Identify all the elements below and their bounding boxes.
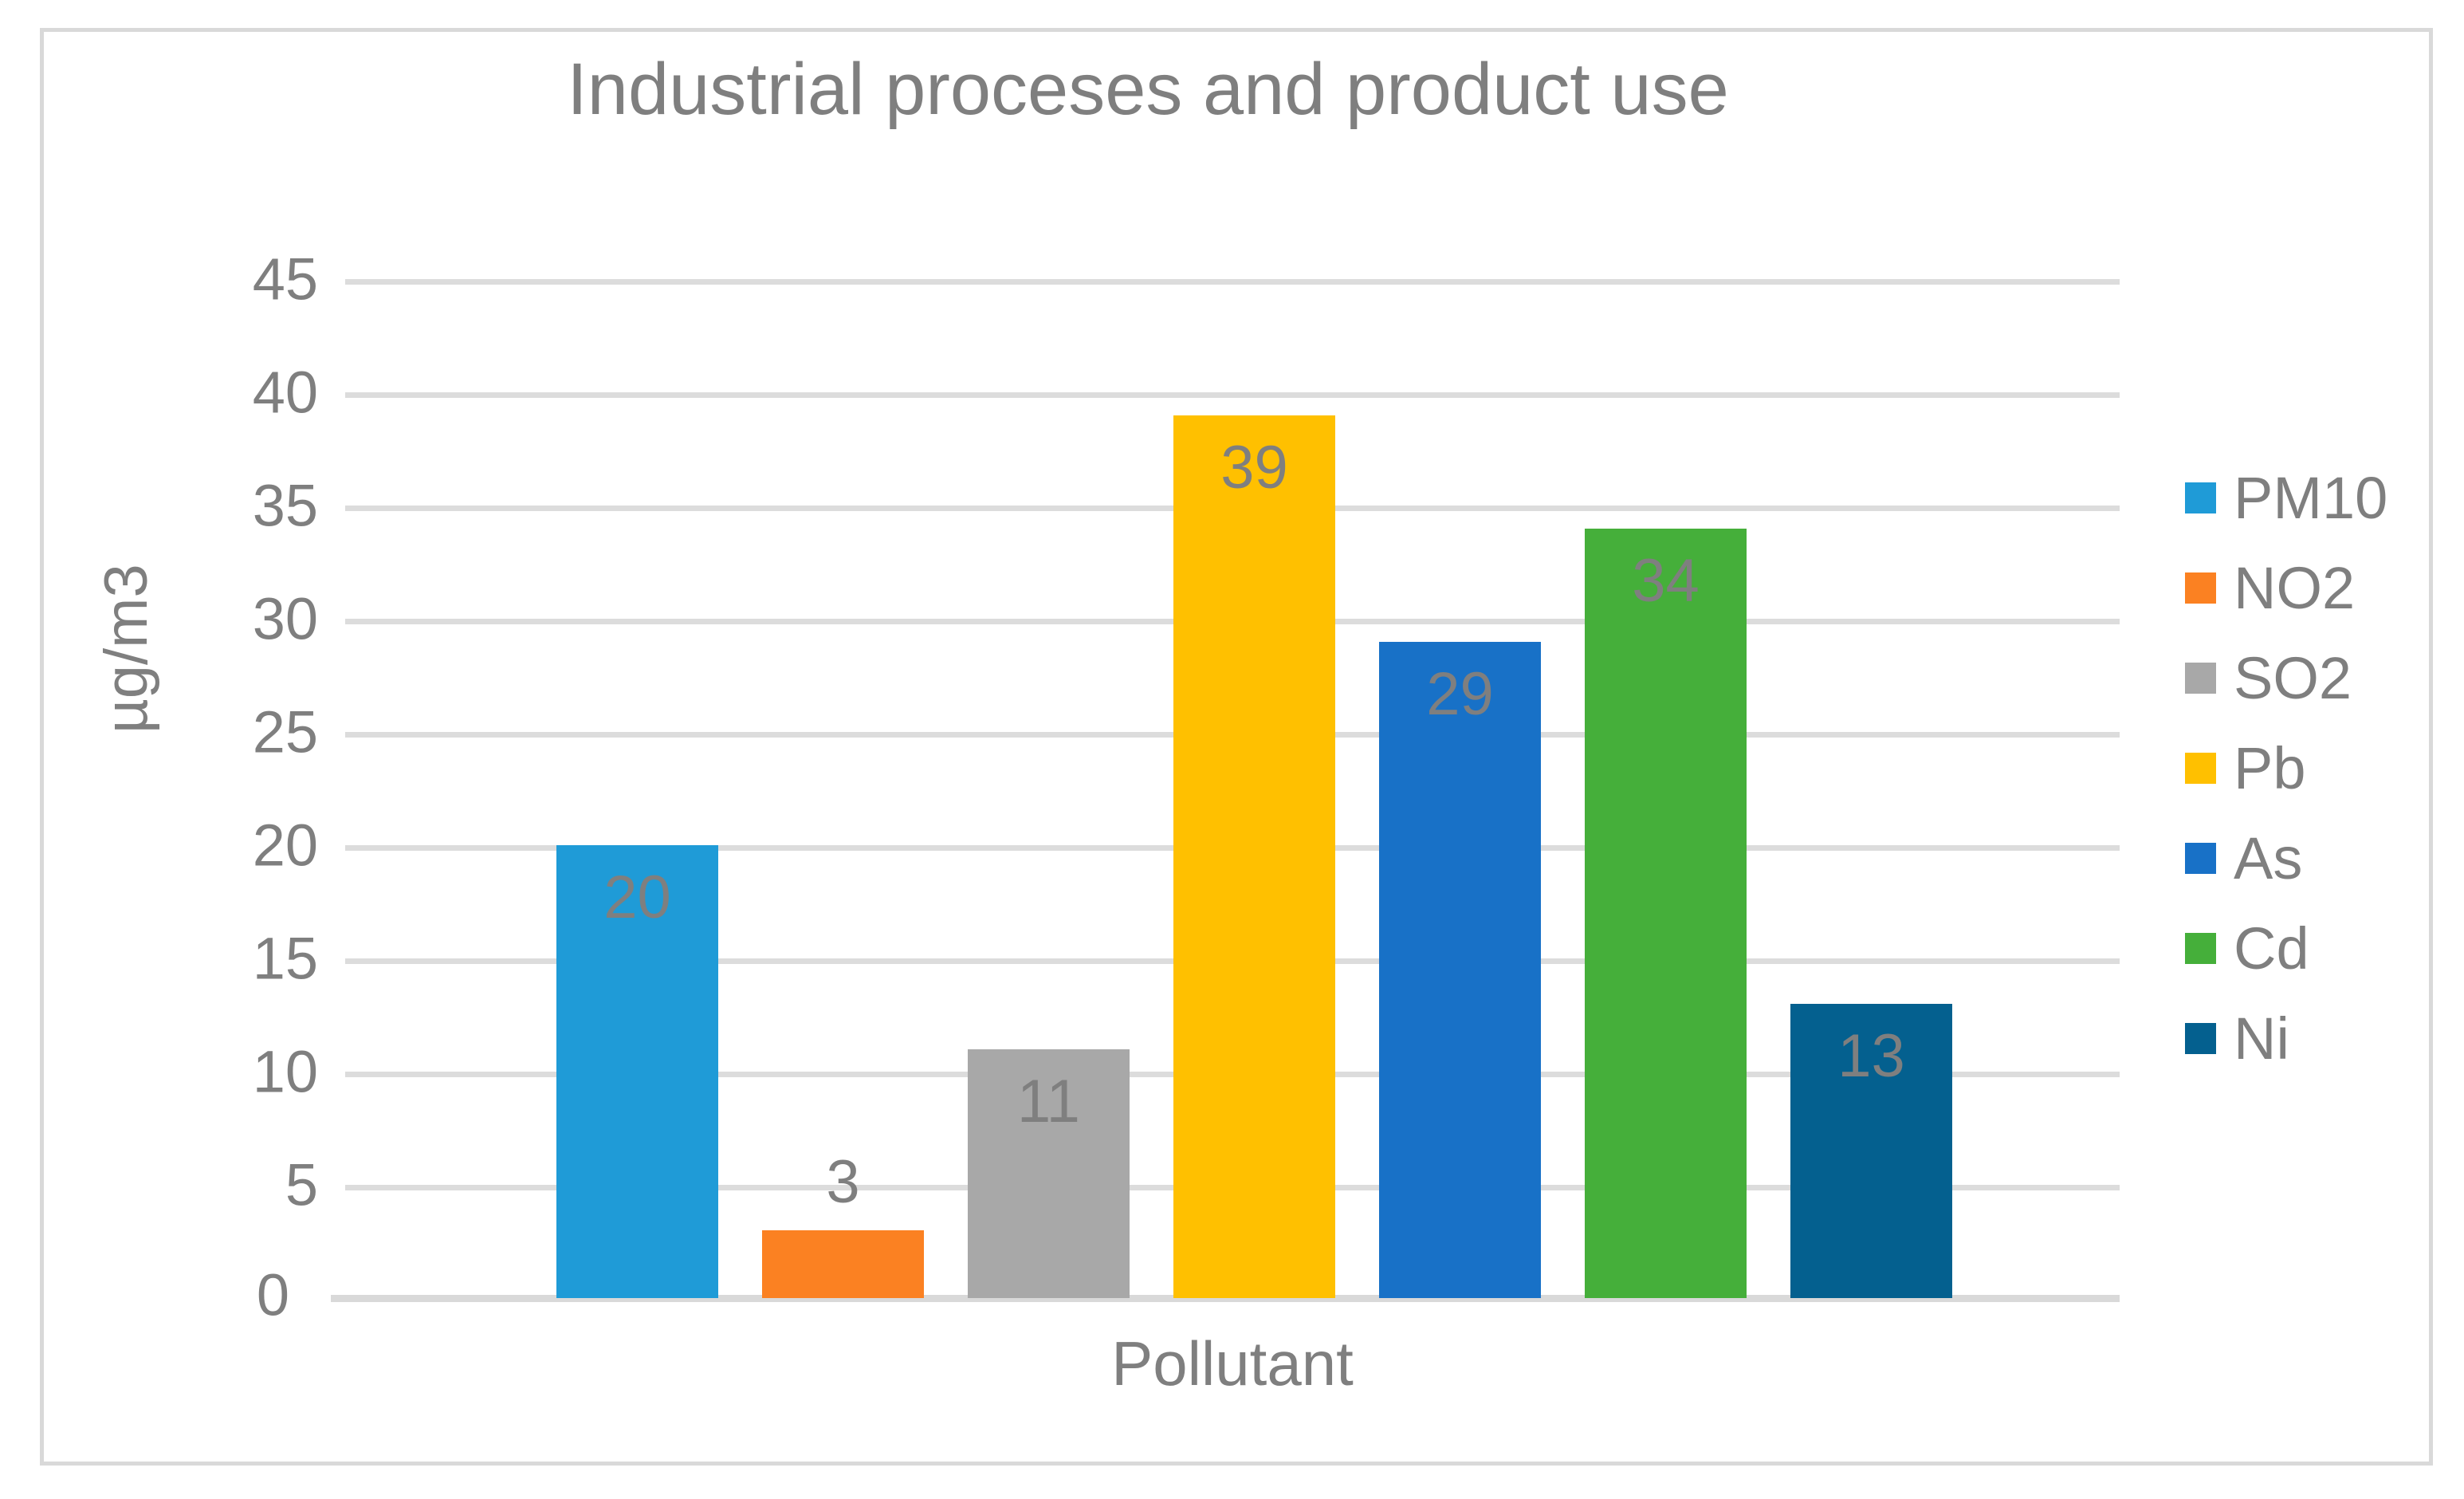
legend-item-label: SO2: [2234, 649, 2352, 708]
y-tick-label: 10: [111, 1038, 318, 1106]
legend-swatch-icon: [2185, 663, 2216, 694]
y-tick-label: 30: [111, 585, 318, 653]
legend-item-label: NO2: [2234, 559, 2355, 618]
bar-value-label: 3: [826, 1147, 859, 1217]
gridline-45: 45: [345, 279, 2120, 285]
bar-as[interactable]: 29: [1379, 642, 1541, 1298]
legend-swatch-icon: [2185, 572, 2216, 604]
y-tick-label: 40: [111, 359, 318, 427]
y-tick-label: 45: [111, 246, 318, 313]
chart-title: Industrial proceses and product use: [44, 48, 2252, 132]
plot-area: 45 40 35 30 25 20 15 10: [345, 279, 2120, 1298]
legend-item-label: Cd: [2234, 919, 2309, 978]
chart-screenshot: Industrial proceses and product use µg/m…: [0, 0, 2464, 1499]
legend-swatch-icon: [2185, 843, 2216, 874]
legend-swatch-icon: [2185, 933, 2216, 964]
legend-swatch-icon: [2185, 482, 2216, 513]
legend-item-as[interactable]: As: [2185, 813, 2424, 903]
bar-cd[interactable]: 34: [1585, 529, 1747, 1298]
legend-item-pb[interactable]: Pb: [2185, 723, 2424, 813]
bar-value-label: 39: [1220, 433, 1288, 502]
legend-item-label: As: [2234, 829, 2302, 888]
legend: PM10 NO2 SO2 Pb As Cd: [2185, 453, 2424, 1084]
bar-no2[interactable]: 3: [762, 1230, 924, 1298]
legend-item-label: Ni: [2234, 1009, 2289, 1068]
bar-value-label: 11: [1017, 1067, 1080, 1136]
bar-pb[interactable]: 39: [1173, 415, 1335, 1298]
bar-pm10[interactable]: 20: [556, 845, 718, 1298]
legend-item-pm10[interactable]: PM10: [2185, 453, 2424, 543]
legend-swatch-icon: [2185, 1023, 2216, 1054]
chart-frame: Industrial proceses and product use µg/m…: [40, 28, 2433, 1466]
y-tick-label: 20: [111, 812, 318, 879]
bar-value-label: 34: [1632, 546, 1700, 616]
x-axis-title: Pollutant: [345, 1328, 2120, 1400]
y-tick-label: 25: [111, 698, 318, 766]
legend-item-cd[interactable]: Cd: [2185, 903, 2424, 993]
legend-item-ni[interactable]: Ni: [2185, 993, 2424, 1084]
y-tick-label: 5: [111, 1151, 318, 1219]
legend-item-label: PM10: [2234, 469, 2387, 528]
y-tick-label: 0: [82, 1261, 289, 1329]
y-tick-label: 35: [111, 472, 318, 540]
gridline-40: 40: [345, 392, 2120, 398]
legend-item-no2[interactable]: NO2: [2185, 543, 2424, 633]
bar-ni[interactable]: 13: [1790, 1004, 1952, 1298]
bar-so2[interactable]: 11: [968, 1049, 1130, 1298]
legend-swatch-icon: [2185, 753, 2216, 784]
legend-item-label: Pb: [2234, 739, 2306, 798]
bar-value-label: 20: [603, 863, 671, 932]
bar-value-label: 29: [1426, 659, 1494, 729]
bar-value-label: 13: [1837, 1021, 1905, 1091]
legend-item-so2[interactable]: SO2: [2185, 633, 2424, 723]
y-tick-label: 15: [111, 925, 318, 993]
